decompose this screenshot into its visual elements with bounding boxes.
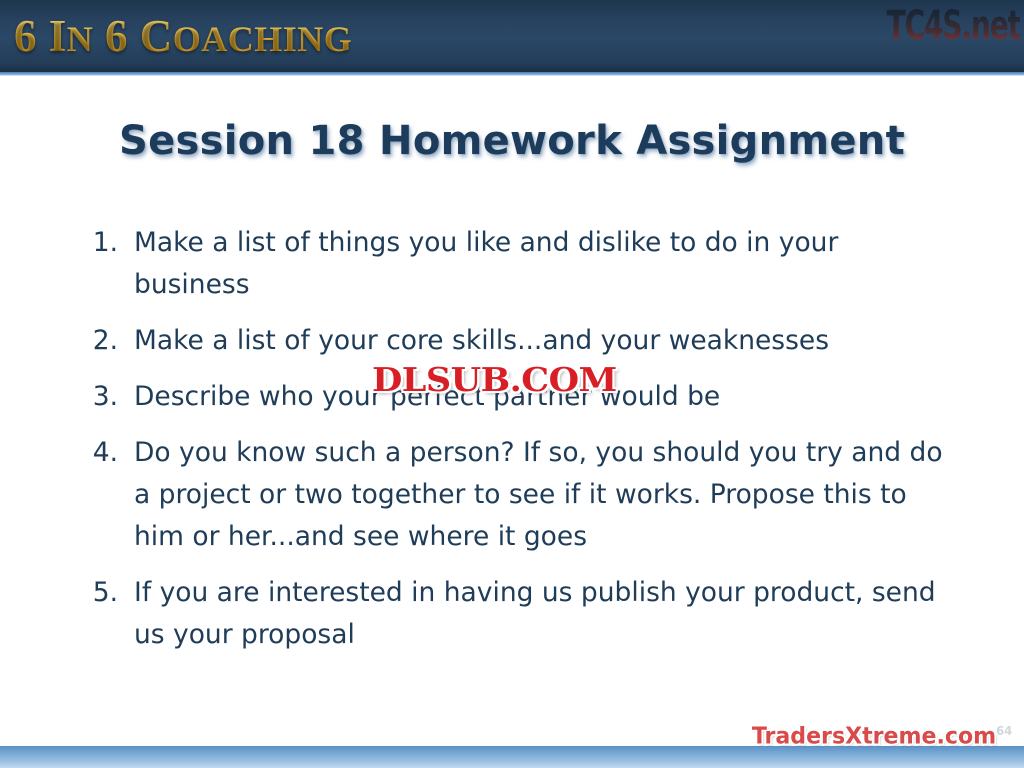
list-item: 2. Make a list of your core skills...and… [70,320,960,362]
brand-logo: 6 IN 6 COACHING [14,9,352,67]
brand-logo-part-4: 6 [93,11,140,61]
header-accent-line [0,72,1024,76]
list-item: 3. Describe who your perfect partner wou… [70,376,960,418]
tradersxtreme-watermark-superscript: 64 [996,724,1012,738]
presentation-slide: 6 IN 6 COACHING TC4S.net Session 18 Home… [0,0,1024,768]
page-title: Session 18 Homework Assignment [0,118,1024,164]
list-item-number: 5. [70,572,134,614]
slide-header-bar: 6 IN 6 COACHING TC4S.net [0,0,1024,72]
list-item-number: 4. [70,432,134,474]
brand-logo-part-2: I [49,11,67,61]
list-item-text: Describe who your perfect partner would … [134,376,960,418]
list-item-text: Make a list of your core skills...and yo… [134,320,960,362]
brand-logo-part-6: OACHING [173,19,353,59]
list-item: 4. Do you know such a person? If so, you… [70,432,960,558]
tc4s-site-logo: TC4S.net [887,2,1020,50]
list-item-number: 3. [70,376,134,418]
list-item: 1. Make a list of things you like and di… [70,222,960,306]
list-item-text: Do you know such a person? If so, you sh… [134,432,960,558]
footer-bar [0,746,1024,768]
brand-logo-part-1: 6 [14,11,49,61]
brand-logo-part-3: N [67,19,94,59]
list-item-number: 2. [70,320,134,362]
list-item-number: 1. [70,222,134,264]
homework-list: 1. Make a list of things you like and di… [70,222,960,670]
brand-logo-part-5: C [140,11,173,61]
list-item-text: If you are interested in having us publi… [134,572,960,656]
list-item-text: Make a list of things you like and disli… [134,222,960,306]
list-item: 5. If you are interested in having us pu… [70,572,960,656]
